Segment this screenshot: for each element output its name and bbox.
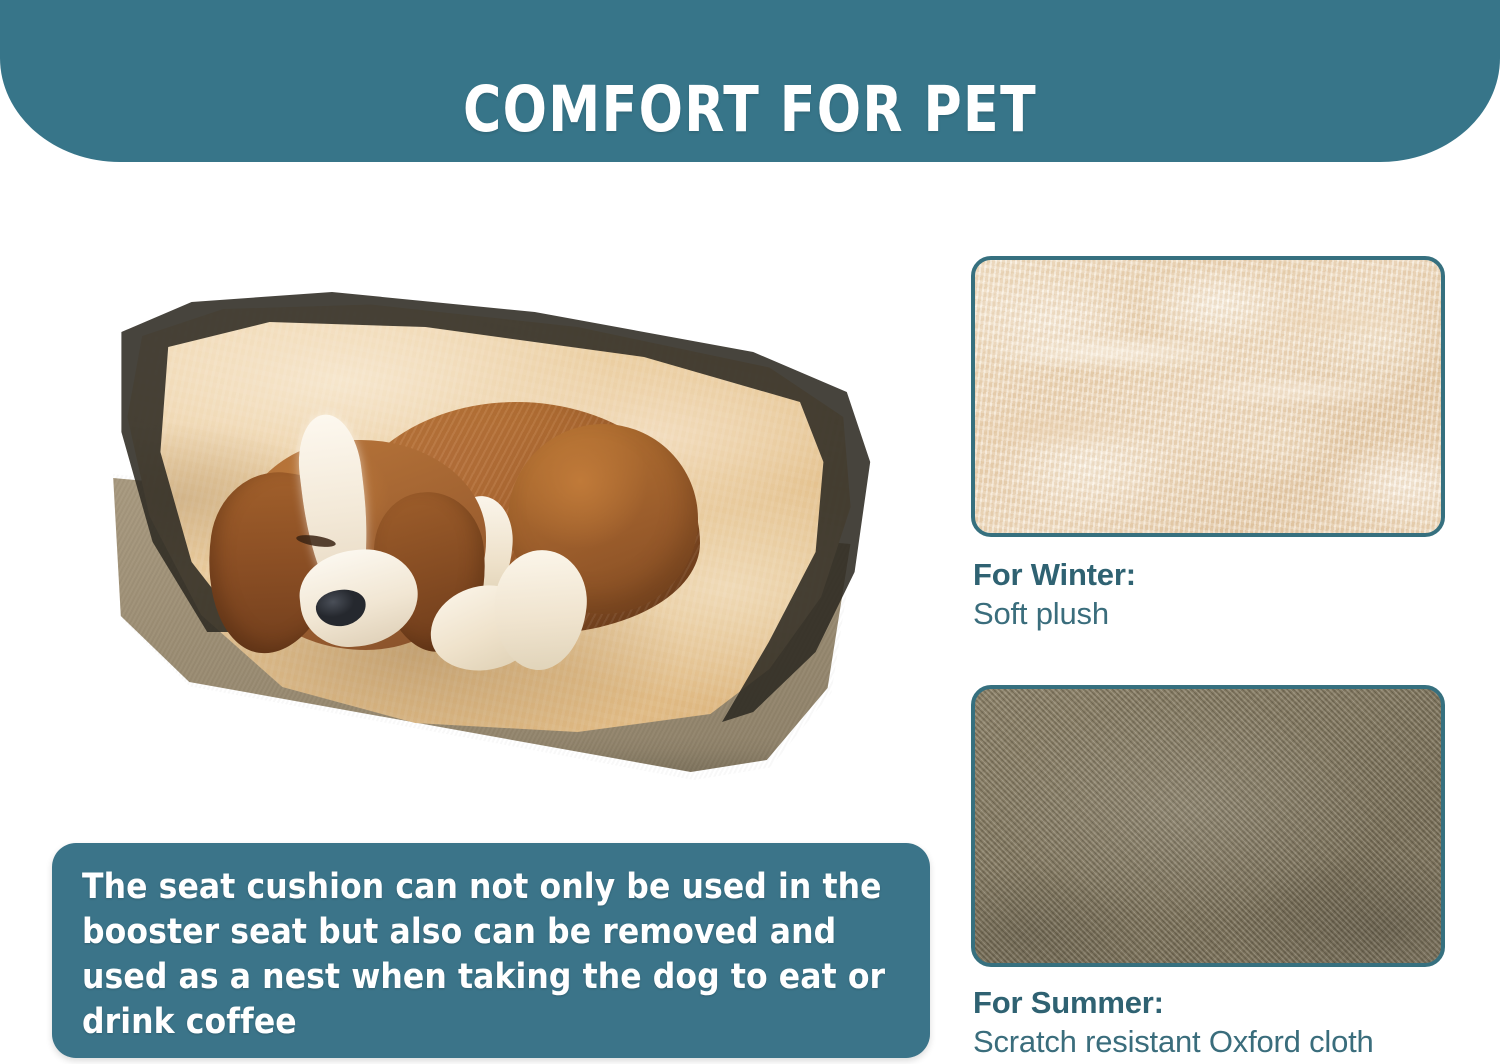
product-photo bbox=[88, 258, 898, 803]
infographic-page: COMFORT FOR PET bbox=[0, 0, 1500, 1064]
summer-caption-value: Scratch resistant Oxford cloth bbox=[973, 1022, 1374, 1062]
plush-highlight-layer bbox=[975, 260, 1441, 533]
winter-caption: For Winter: Soft plush bbox=[973, 556, 1136, 634]
photo-stage bbox=[88, 258, 898, 803]
page-title: COMFORT FOR PET bbox=[60, 78, 1440, 141]
plush-fabric-swatch bbox=[971, 256, 1445, 537]
usage-callout-text: The seat cushion can not only be used in… bbox=[82, 865, 914, 1045]
winter-caption-label: For Winter: bbox=[973, 556, 1136, 594]
oxford-shading-layer bbox=[975, 689, 1441, 963]
sleeping-puppy bbox=[208, 400, 728, 700]
pet-bed-illustration bbox=[98, 282, 878, 782]
summer-caption: For Summer: Scratch resistant Oxford clo… bbox=[973, 984, 1374, 1062]
oxford-fabric-swatch bbox=[971, 685, 1445, 967]
summer-caption-label: For Summer: bbox=[973, 984, 1374, 1022]
winter-caption-value: Soft plush bbox=[973, 594, 1136, 634]
usage-callout-box: The seat cushion can not only be used in… bbox=[52, 843, 930, 1058]
